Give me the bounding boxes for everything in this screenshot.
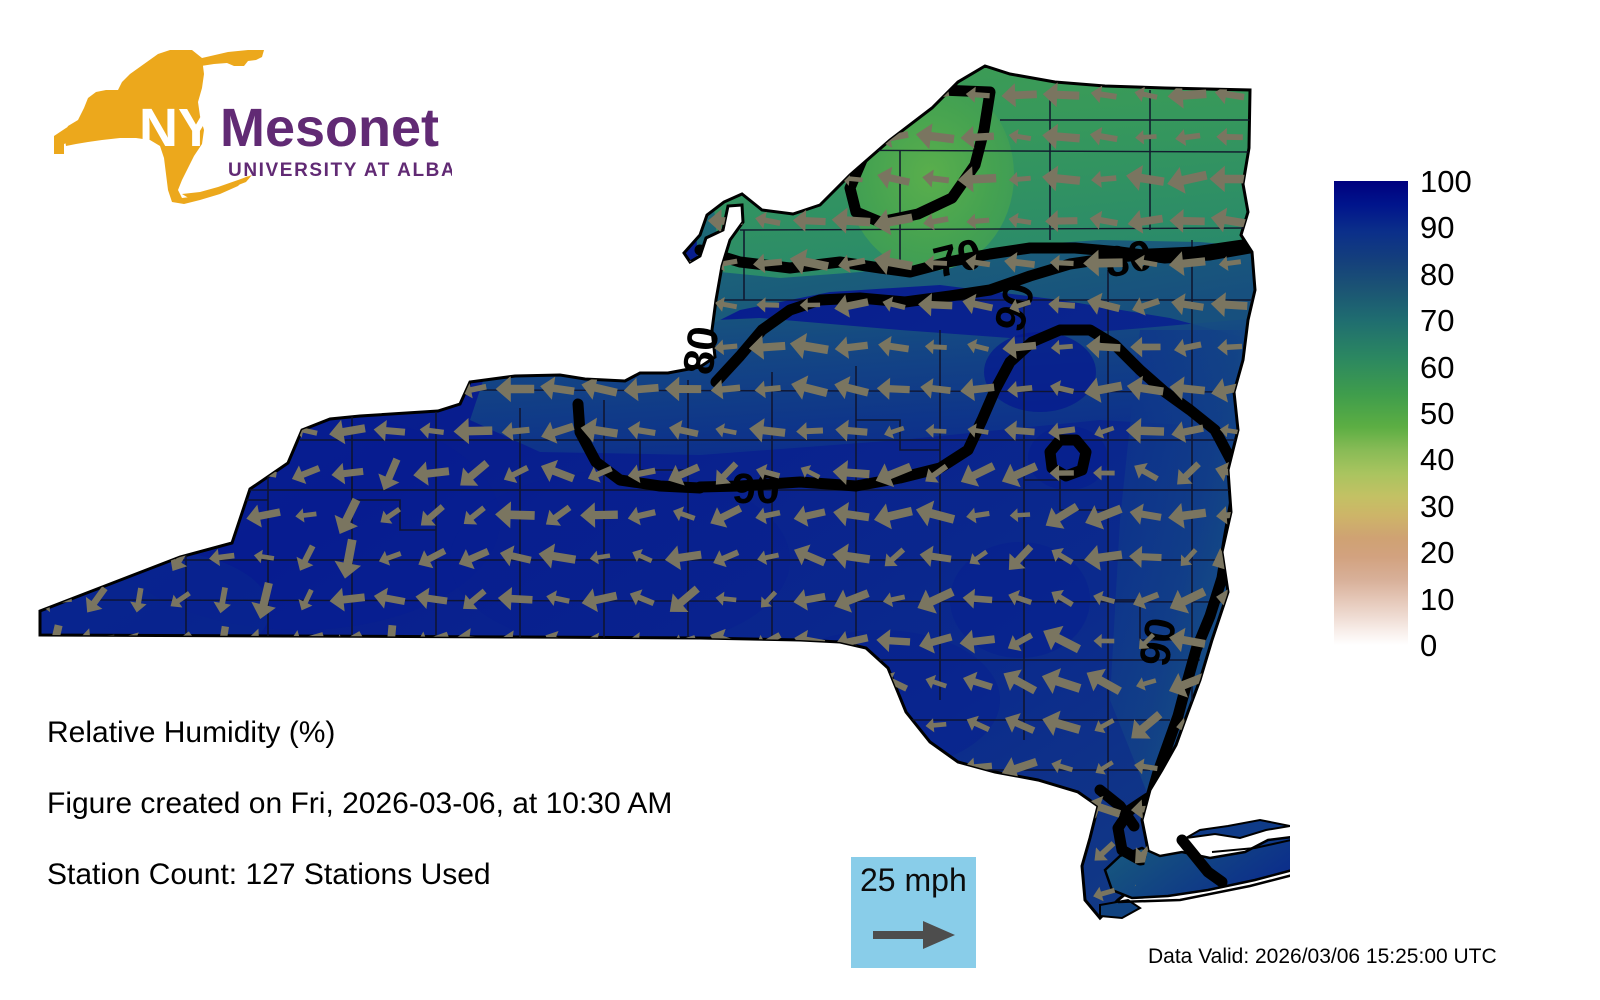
wind-arrow [463, 130, 485, 145]
colorbar-tick-50: 50 [1420, 398, 1454, 429]
wind-arrow [462, 213, 485, 229]
wind-arrow [414, 375, 449, 404]
figure-title: Relative Humidity (%) [47, 718, 807, 748]
wind-arrow [40, 211, 68, 230]
wind-arrow [582, 166, 617, 192]
wind-arrow [1045, 794, 1079, 825]
wind-arrow [579, 79, 620, 110]
colorbar-tick-10: 10 [1420, 584, 1454, 615]
wind-arrow [336, 668, 361, 702]
colorbar-tick-0: 0 [1420, 630, 1437, 661]
wind-arrow [1211, 752, 1248, 783]
wind-arrow [461, 253, 486, 272]
wind-arrow [157, 455, 201, 491]
wind-arrow [168, 296, 191, 314]
wind-arrow [747, 123, 787, 152]
wind-arrow [79, 252, 112, 274]
data-valid-text: Data Valid: 2026/03/06 15:25:00 UTC [1148, 946, 1497, 968]
wind-arrow [31, 371, 75, 406]
wind-arrow [882, 714, 907, 735]
humidity-colorbar: 1009080706050403020100 [1334, 181, 1584, 651]
wind-arrow [165, 335, 195, 359]
figure-caption: Relative Humidity (%) Figure created on … [47, 718, 807, 931]
wind-arrow [243, 207, 284, 235]
wind-arrow [461, 338, 486, 357]
wind-arrow [167, 212, 192, 229]
figure-created-text: Figure created on Fri, 2026-03-06, at 10… [47, 789, 807, 819]
wind-arrow [587, 127, 612, 147]
wind-arrow [80, 378, 110, 400]
colorbar-tick-100: 100 [1420, 166, 1472, 197]
wind-arrow [536, 664, 578, 700]
wind-arrow [1046, 839, 1077, 864]
wind-arrow [159, 665, 200, 700]
wind-arrow [292, 211, 320, 231]
wind-arrow [790, 81, 828, 109]
wind-arrow [543, 126, 573, 148]
wind-arrow [326, 330, 368, 363]
wind-arrow [369, 207, 409, 235]
wind-arrow [503, 254, 528, 272]
wind-arrow-icon [871, 915, 959, 955]
wind-arrow [537, 249, 577, 276]
wind-arrow [755, 86, 781, 105]
wind-arrow [799, 171, 821, 186]
wind-legend-label: 25 mph [860, 862, 967, 898]
wind-arrow [495, 123, 535, 151]
wind-arrow [925, 802, 946, 817]
wind-arrow [116, 205, 157, 236]
wind-arrow [287, 250, 323, 276]
colorbar-gradient [1334, 181, 1408, 645]
wind-arrow [325, 288, 369, 324]
wind-arrow [81, 294, 111, 316]
wind-arrow [586, 252, 614, 273]
wind-arrow [1040, 875, 1083, 910]
wind-arrow [35, 418, 71, 444]
wind-arrow [41, 338, 66, 356]
wind-arrow [1215, 796, 1244, 824]
wind-arrow [500, 294, 531, 317]
wind-arrow [252, 296, 276, 314]
wind-arrow [620, 333, 661, 361]
colorbar-tick-30: 30 [1420, 491, 1454, 522]
wind-arrow [372, 375, 408, 404]
wind-arrow [835, 793, 869, 827]
wind-arrow [368, 331, 411, 364]
wind-arrow [74, 414, 117, 447]
wind-arrow [74, 206, 115, 237]
wind-arrow [827, 747, 875, 789]
colorbar-tick-70: 70 [1420, 305, 1454, 336]
wind-arrow [80, 546, 111, 567]
wind-arrow [628, 127, 656, 146]
wind-arrow [1217, 629, 1243, 655]
wind-arrow [208, 337, 236, 357]
wind-arrow [77, 499, 114, 530]
wind-arrow [117, 374, 158, 403]
wind-arrow [417, 294, 447, 316]
wind-arrow [411, 249, 452, 278]
wind-arrow [207, 211, 237, 232]
wind-arrow [408, 329, 453, 367]
wind-arrow [368, 667, 409, 699]
wind-arrow [166, 253, 194, 274]
wind-arrow [291, 379, 319, 399]
wind-arrow [668, 126, 699, 148]
wind-arrow [422, 670, 444, 699]
wind-arrow [707, 666, 745, 703]
wind-arrow [621, 248, 660, 277]
wind-arrow [667, 82, 700, 108]
wind-arrow [205, 502, 238, 530]
wind-arrow [160, 416, 199, 448]
wind-arrow [202, 291, 240, 320]
wind-arrow [871, 788, 916, 834]
wind-arrow [959, 794, 996, 823]
wind-arrow [794, 669, 825, 696]
wind-arrow [209, 674, 234, 692]
wind-arrow [452, 289, 494, 321]
wind-arrow [715, 172, 736, 187]
wind-arrow [126, 297, 149, 313]
wind-arrow [714, 87, 738, 104]
wind-arrow [378, 297, 401, 314]
wind-arrow [254, 382, 275, 396]
wind-arrow [500, 167, 532, 191]
wind-arrow [419, 211, 445, 231]
wind-arrow [840, 87, 864, 104]
wind-arrow [201, 249, 240, 277]
wind-speed-legend: 25 mph [851, 857, 976, 968]
wind-arrow [1168, 752, 1207, 782]
wind-arrow [830, 121, 871, 152]
wind-arrow [334, 380, 361, 399]
wind-arrow [537, 165, 578, 193]
wind-arrow [621, 165, 661, 192]
wind-arrow [169, 381, 191, 397]
wind-arrow [202, 456, 242, 491]
wind-arrow [457, 84, 489, 106]
wind-arrow [671, 671, 697, 694]
wind-arrow [33, 539, 73, 573]
wind-arrow [1213, 710, 1247, 741]
wind-arrow [31, 246, 75, 280]
station-count-text: Station Count: 127 Stations Used [47, 860, 807, 890]
wind-arrow [88, 463, 105, 486]
wind-arrow [31, 456, 74, 489]
wind-arrow [578, 665, 620, 700]
wind-arrow [32, 498, 74, 533]
colorbar-tick-90: 90 [1420, 212, 1454, 243]
wind-arrow [252, 339, 276, 356]
wind-arrow [503, 212, 529, 230]
colorbar-tick-80: 80 [1420, 259, 1454, 290]
colorbar-tick-60: 60 [1420, 352, 1454, 383]
wind-arrow [536, 288, 578, 320]
wind-arrow [840, 714, 865, 738]
wind-arrow [496, 81, 534, 110]
wind-arrow [748, 165, 787, 192]
wind-arrow [326, 247, 368, 279]
wind-arrow [623, 292, 659, 318]
wind-arrow [1176, 797, 1201, 820]
logo-mesonet-text: Mesonet [220, 98, 439, 158]
wind-arrow [546, 212, 570, 230]
wind-arrow [501, 335, 531, 359]
wind-arrow [117, 452, 160, 497]
wind-arrow [621, 81, 661, 109]
wind-arrow [250, 252, 278, 273]
wind-arrow [467, 673, 483, 695]
colorbar-tick-40: 40 [1420, 444, 1454, 475]
wind-arrow [248, 672, 278, 694]
wind-arrow [587, 212, 612, 231]
wind-arrow [81, 337, 110, 357]
wind-arrow [665, 166, 701, 193]
wind-arrow [42, 296, 65, 314]
wind-arrow [584, 294, 615, 316]
wind-arrow [158, 498, 200, 534]
wind-arrow [371, 250, 408, 276]
colorbar-tick-20: 20 [1420, 537, 1454, 568]
wind-arrow [667, 292, 700, 318]
wind-arrow [541, 82, 574, 108]
wind-arrow [1001, 875, 1038, 912]
colorbar-tick-labels: 1009080706050403020100 [1420, 159, 1550, 659]
wind-arrow [1005, 840, 1034, 862]
wind-arrow [200, 374, 241, 403]
wind-arrow [578, 330, 619, 363]
wind-arrow [39, 670, 69, 697]
wind-arrow [619, 664, 663, 701]
wind-arrow [1006, 799, 1033, 820]
logo-subtitle: UNIVERSITY AT ALBANY [228, 160, 452, 181]
wind-arrow [668, 209, 699, 233]
wind-arrow [462, 170, 487, 189]
nys-mesonet-logo: NYS Mesonet UNIVERSITY AT ALBANY [52, 48, 452, 208]
wind-arrow [1209, 664, 1251, 705]
wind-arrow [793, 125, 826, 149]
wind-arrow [117, 248, 158, 278]
wind-arrow [122, 667, 155, 702]
wind-arrow [501, 666, 532, 704]
wind-arrow [117, 417, 156, 444]
wind-arrow [293, 668, 321, 701]
wind-arrow [330, 209, 364, 233]
wind-arrow [538, 333, 576, 361]
wind-arrow [207, 420, 237, 442]
wind-arrow [295, 297, 317, 312]
wind-arrow [879, 753, 910, 783]
wind-arrow [126, 337, 150, 356]
wind-arrow [714, 128, 738, 147]
wind-arrow [251, 422, 277, 441]
wind-arrow [623, 207, 660, 236]
figure-canvas: 70 80 80 90 90 90 NYS [0, 0, 1600, 1000]
wind-arrow [292, 338, 318, 356]
wind-arrow [749, 668, 786, 698]
wind-arrow [81, 672, 109, 693]
wind-arrow [115, 497, 160, 534]
wind-arrow [838, 671, 865, 696]
wind-arrow [873, 80, 912, 109]
